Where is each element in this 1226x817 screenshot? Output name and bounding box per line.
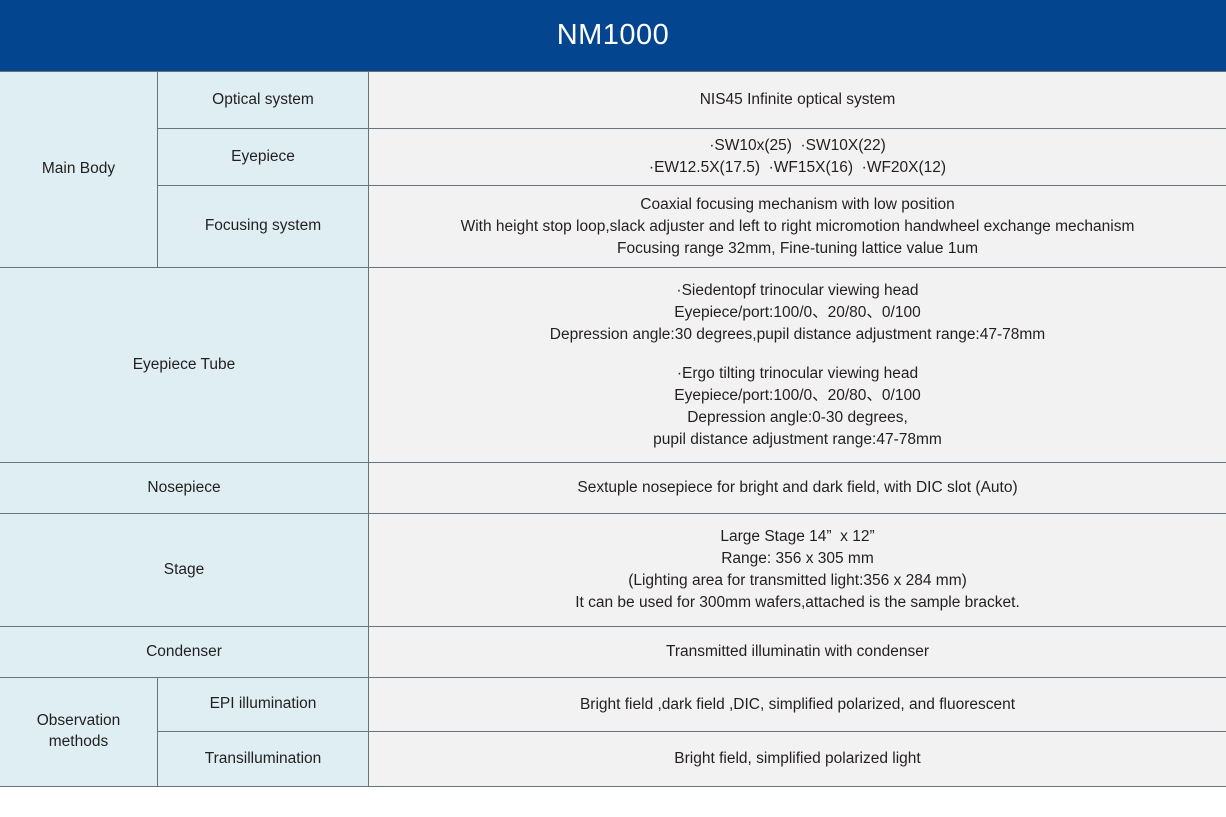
row-label-eyepiece: Eyepiece (158, 129, 369, 185)
eyepiece-tube-option-siedentopf: ·Siedentopf trinocular viewing head Eyep… (550, 280, 1045, 346)
value-line: (Lighting area for transmitted light:356… (628, 570, 967, 592)
eyepiece-tube-option-ergo-tilting: ·Ergo tilting trinocular viewing head Ey… (653, 363, 942, 451)
row-value-eyepiece: ·SW10x(25) ·SW10X(22) ·EW12.5X(17.5) ·WF… (369, 129, 1226, 185)
row-label-epi-illumination: EPI illumination (158, 678, 369, 731)
value-line: ·Ergo tilting trinocular viewing head (677, 363, 918, 385)
observation-methods-subrows: EPI illumination Bright field ,dark fiel… (158, 678, 1226, 786)
value-line: Large Stage 14” x 12” (720, 526, 874, 548)
main-body-subrows: Optical system NIS45 Infinite optical sy… (158, 72, 1226, 267)
row-label-observation-methods: Observation methods (0, 678, 158, 786)
value-line: Coaxial focusing mechanism with low posi… (640, 194, 954, 216)
value-line: Transmitted illuminatin with condenser (666, 641, 929, 663)
row-label-stage: Stage (0, 514, 369, 626)
row-label-eyepiece-tube: Eyepiece Tube (0, 268, 369, 462)
value-line: With height stop loop,slack adjuster and… (461, 216, 1135, 238)
value-line: It can be used for 300mm wafers,attached… (575, 592, 1020, 614)
row-label-nosepiece: Nosepiece (0, 463, 369, 513)
specification-sheet: NM1000 Main Body Optical system NIS45 In… (0, 0, 1226, 817)
row-value-nosepiece: Sextuple nosepiece for bright and dark f… (369, 463, 1226, 513)
row-value-optical-system: NIS45 Infinite optical system (369, 72, 1226, 128)
row-value-transillumination: Bright field, simplified polarized light (369, 732, 1226, 786)
specifications-table: Main Body Optical system NIS45 Infinite … (0, 71, 1226, 817)
table-row-transillumination: Transillumination Bright field, simplifi… (158, 732, 1226, 786)
table-row-eyepiece: Eyepiece ·SW10x(25) ·SW10X(22) ·EW12.5X(… (158, 129, 1226, 186)
value-line: NIS45 Infinite optical system (700, 89, 896, 111)
value-line: Bright field ,dark field ,DIC, simplifie… (580, 694, 1015, 716)
value-line: Eyepiece/port:100/0、20/80、0/100 (674, 385, 920, 407)
value-line: ·Siedentopf trinocular viewing head (676, 280, 918, 302)
value-line: Focusing range 32mm, Fine-tuning lattice… (617, 238, 978, 260)
table-group-main-body: Main Body Optical system NIS45 Infinite … (0, 72, 1226, 268)
table-row-stage: Stage Large Stage 14” x 12” Range: 356 x… (0, 514, 1226, 627)
row-value-stage: Large Stage 14” x 12” Range: 356 x 305 m… (369, 514, 1226, 626)
row-value-epi-illumination: Bright field ,dark field ,DIC, simplifie… (369, 678, 1226, 731)
row-label-optical-system: Optical system (158, 72, 369, 128)
row-label-transillumination: Transillumination (158, 732, 369, 786)
table-row-optical-system: Optical system NIS45 Infinite optical sy… (158, 72, 1226, 129)
row-label-condenser: Condenser (0, 627, 369, 677)
value-line: pupil distance adjustment range:47-78mm (653, 429, 942, 451)
row-value-focusing-system: Coaxial focusing mechanism with low posi… (369, 186, 1226, 267)
value-line: Sextuple nosepiece for bright and dark f… (577, 477, 1017, 499)
table-row-epi-illumination: EPI illumination Bright field ,dark fiel… (158, 678, 1226, 732)
value-line: Bright field, simplified polarized light (674, 748, 920, 770)
row-label-main-body: Main Body (0, 72, 158, 267)
table-row-eyepiece-tube: Eyepiece Tube ·Siedentopf trinocular vie… (0, 268, 1226, 463)
table-row-focusing-system: Focusing system Coaxial focusing mechani… (158, 186, 1226, 267)
value-line: Depression angle:0-30 degrees, (687, 407, 908, 429)
table-group-observation-methods: Observation methods EPI illumination Bri… (0, 678, 1226, 787)
value-line: Range: 356 x 305 mm (721, 548, 874, 570)
page-title: NM1000 (0, 0, 1226, 71)
row-value-condenser: Transmitted illuminatin with condenser (369, 627, 1226, 677)
value-line: Depression angle:30 degrees,pupil distan… (550, 324, 1045, 346)
table-row-condenser: Condenser Transmitted illuminatin with c… (0, 627, 1226, 678)
value-line: ·SW10x(25) ·SW10X(22) (709, 135, 886, 157)
row-label-focusing-system: Focusing system (158, 186, 369, 267)
value-line: Eyepiece/port:100/0、20/80、0/100 (674, 302, 920, 324)
table-row-nosepiece: Nosepiece Sextuple nosepiece for bright … (0, 463, 1226, 514)
value-line: ·EW12.5X(17.5) ·WF15X(16) ·WF20X(12) (649, 157, 946, 179)
row-value-eyepiece-tube: ·Siedentopf trinocular viewing head Eyep… (369, 268, 1226, 462)
